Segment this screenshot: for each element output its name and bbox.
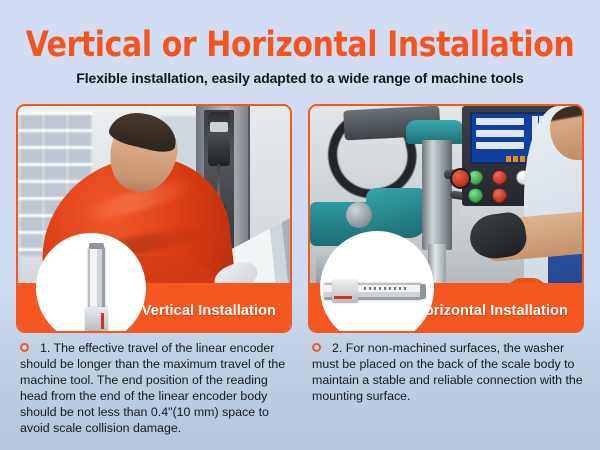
encoder-indicator-stripe — [334, 296, 352, 299]
machine-spindle — [208, 112, 230, 166]
linear-encoder-horizontal-icon — [324, 283, 422, 300]
inset-circle-horizontal — [320, 231, 434, 333]
encoder-reading-head — [85, 307, 108, 331]
panel-horizontal-installation[interactable]: Horizontal Installation — [308, 104, 584, 333]
caption-label-horizontal: Horizontal Installation — [414, 303, 568, 319]
note-item-2: 2. For non-machined surfaces, the washer… — [312, 340, 588, 404]
page-subtitle: Flexible installation, easily adapted to… — [5, 70, 596, 88]
infographic-page: Vertical or Horizontal Installation Flex… — [0, 0, 600, 450]
control-button-red-1 — [492, 170, 507, 185]
machine-quill — [422, 140, 452, 250]
encoder-reading-head — [332, 280, 358, 303]
notes-section: 1. The effective travel of the linear en… — [0, 340, 600, 450]
caption-label-vertical: Vertical Installation — [142, 303, 276, 319]
page-title: Vertical or Horizontal Installation — [15, 26, 585, 64]
encoder-end-cap — [89, 243, 104, 249]
dro-readout-line-2 — [476, 130, 524, 137]
linear-encoder-vertical-icon — [88, 247, 105, 333]
ring-bullet-icon — [312, 343, 321, 352]
note-item-1: 1. The effective travel of the linear en… — [20, 340, 296, 437]
machine-handwheel — [346, 202, 372, 228]
machine-chuck — [210, 122, 228, 132]
note-text-1: 1. The effective travel of the linear en… — [20, 341, 285, 435]
emergency-stop-button — [450, 168, 471, 189]
encoder-end-cap — [420, 284, 426, 299]
panel-vertical-installation[interactable]: Vertical Installation — [16, 104, 292, 333]
dro-readout-line-1 — [476, 118, 524, 125]
note-text-2: 2. For non-machined surfaces, the washer… — [312, 341, 583, 403]
dro-readout-line-3 — [476, 142, 524, 149]
inset-circle-vertical — [36, 233, 146, 333]
encoder-indicator-stripe — [101, 313, 104, 329]
ring-bullet-icon — [20, 343, 29, 352]
control-button-red-2 — [492, 188, 507, 203]
control-button-green-2 — [468, 188, 483, 203]
encoder-scale-marks — [364, 287, 408, 290]
